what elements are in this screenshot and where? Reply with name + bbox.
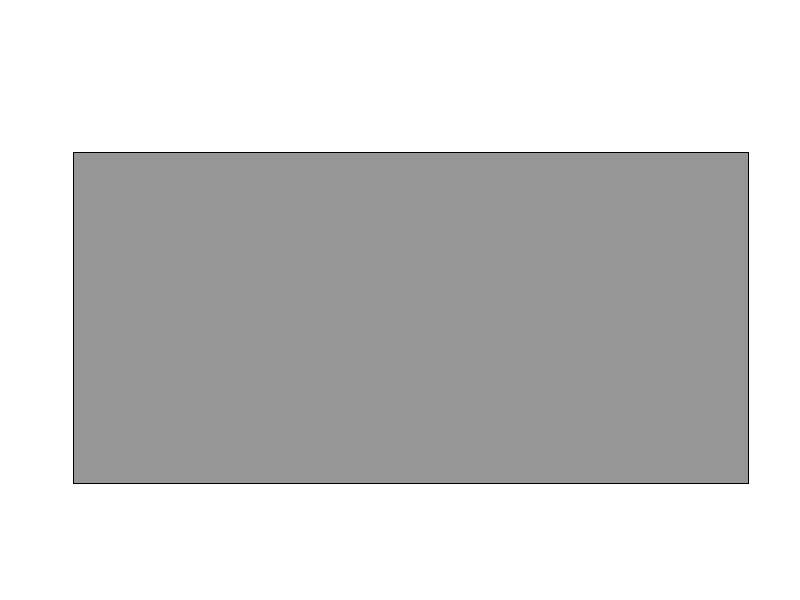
map-inner	[74, 153, 748, 483]
figure-canvas	[0, 0, 800, 600]
world-map	[74, 153, 748, 483]
ocean-background	[74, 153, 748, 483]
map-plot-area[interactable]	[73, 152, 749, 484]
